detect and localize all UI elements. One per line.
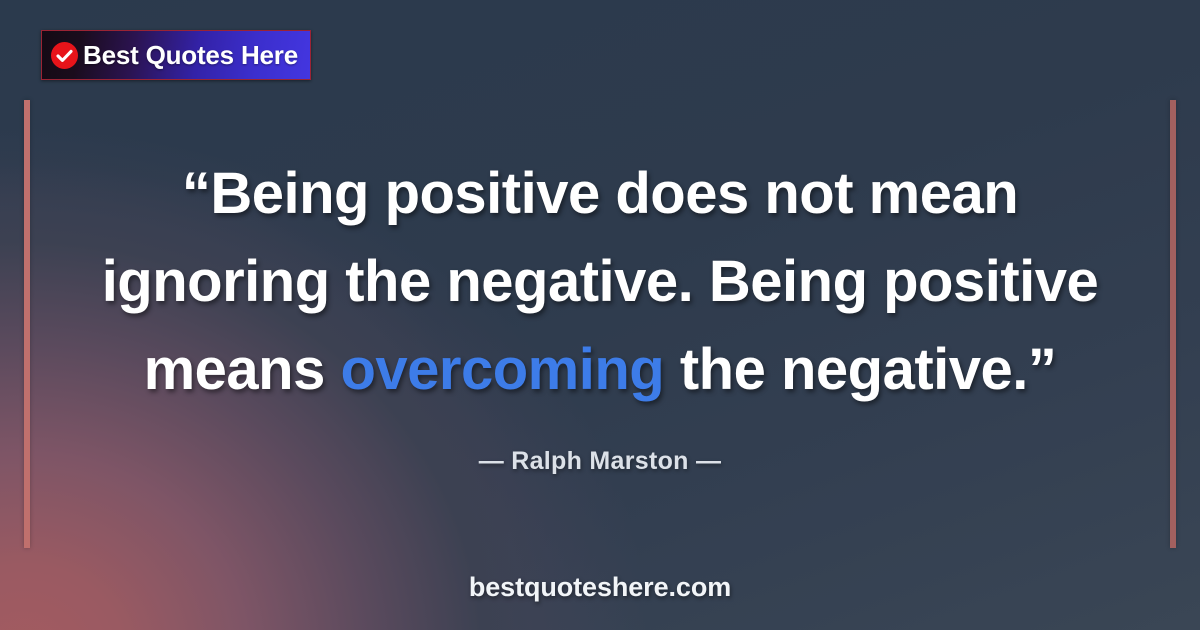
quote-line-3: means overcoming the negative.” bbox=[56, 326, 1144, 414]
brand-badge[interactable]: Best Quotes Here bbox=[41, 30, 311, 80]
quote-highlight-word: overcoming bbox=[340, 337, 664, 402]
site-url-footer: bestquoteshere.com bbox=[0, 572, 1200, 603]
quote-line-3-prefix: means bbox=[144, 337, 341, 402]
quote-attribution: — Ralph Marston — bbox=[0, 447, 1200, 476]
check-circle-icon bbox=[51, 42, 78, 69]
quote-line-2: ignoring the negative. Being positive bbox=[56, 238, 1144, 326]
quote-line-3-suffix: the negative.” bbox=[664, 337, 1056, 402]
quote-line-1: “Being positive does not mean bbox=[56, 150, 1144, 238]
quote-block: “Being positive does not mean ignoring t… bbox=[0, 150, 1200, 414]
quote-card: Best Quotes Here “Being positive does no… bbox=[0, 0, 1200, 630]
brand-badge-label: Best Quotes Here bbox=[83, 42, 298, 68]
quote-text: “Being positive does not mean ignoring t… bbox=[56, 150, 1144, 414]
